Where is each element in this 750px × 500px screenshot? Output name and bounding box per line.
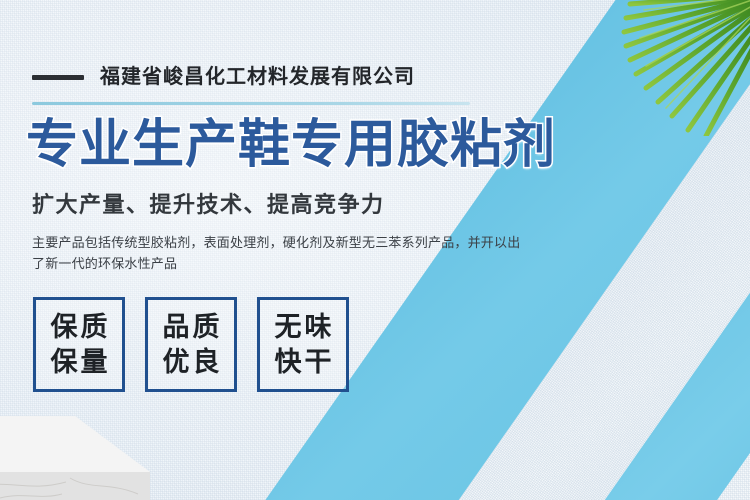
- feature-line-1: 品质: [160, 310, 223, 345]
- feature-box: 无味 快干: [257, 297, 349, 392]
- banner-content: 福建省峻昌化工材料发展有限公司 专业生产鞋专用胶粘剂 扩大产量、提升技术、提高竞…: [0, 0, 750, 500]
- subheading: 扩大产量、提升技术、提高竞争力: [32, 192, 385, 218]
- feature-line-2: 保量: [48, 345, 111, 380]
- company-name: 福建省峻昌化工材料发展有限公司: [100, 67, 415, 87]
- feature-line-2: 优良: [160, 345, 223, 380]
- feature-line-1: 保质: [48, 310, 111, 345]
- feature-box-row: 保质 保量 品质 优良 无味 快干: [33, 297, 349, 392]
- feature-box: 保质 保量: [33, 297, 125, 392]
- divider-rule: [32, 102, 470, 105]
- page-title: 专业生产鞋专用胶粘剂: [26, 118, 556, 173]
- promo-banner: 福建省峻昌化工材料发展有限公司 专业生产鞋专用胶粘剂 扩大产量、提升技术、提高竞…: [0, 0, 750, 500]
- feature-line-2: 快干: [272, 345, 335, 380]
- description-paragraph: 主要产品包括传统型胶粘剂，表面处理剂，硬化剂及新型无三苯系列产品，并开以出了新一…: [32, 232, 524, 275]
- dash-icon: [32, 75, 84, 80]
- feature-box: 品质 优良: [145, 297, 237, 392]
- feature-line-1: 无味: [272, 310, 335, 345]
- company-row: 福建省峻昌化工材料发展有限公司: [32, 67, 415, 87]
